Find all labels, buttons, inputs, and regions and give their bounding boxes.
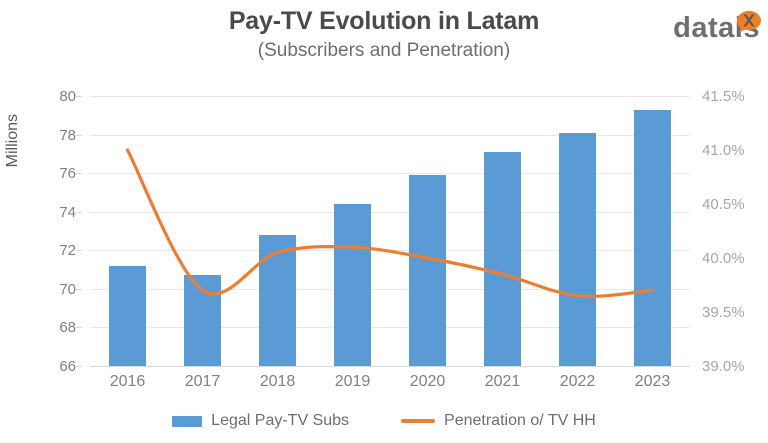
legend-item-bar[interactable]: Legal Pay-TV Subs [172, 412, 349, 430]
y2-axis-tick-label: 40.0% [702, 251, 745, 266]
speech-bubble-x-icon [736, 9, 762, 39]
logo-wordmark: datais [673, 12, 760, 44]
y-axis-tick-mark [76, 289, 82, 290]
y2-axis-tick-label: 39.0% [702, 359, 745, 374]
y-axis-tick-mark [76, 135, 82, 136]
x-axis-tick-label: 2017 [165, 372, 240, 392]
y-axis-tick-label: 76 [59, 166, 76, 181]
y-axis-tick-mark [76, 250, 82, 251]
x-axis-tick-label: 2021 [465, 372, 540, 392]
legend-swatch-bar-icon [172, 416, 202, 427]
line-path[interactable] [128, 150, 653, 296]
x-axis: 20162017201820192020202120222023 [90, 372, 690, 396]
right-y-axis: 39.0%39.5%40.0%40.5%41.0%41.5% [698, 96, 764, 366]
y-axis-tick-mark [76, 173, 82, 174]
y-axis-tick-mark [76, 327, 82, 328]
y2-axis-tick-label: 41.0% [702, 143, 745, 158]
legend-item-line[interactable]: Penetration o/ TV HH [401, 412, 596, 430]
chart-legend: Legal Pay-TV Subs Penetration o/ TV HH [0, 412, 768, 430]
chart-container: Pay-TV Evolution in Latam (Subscribers a… [0, 0, 768, 443]
x-axis-tick-label: 2020 [390, 372, 465, 392]
y-axis-tick-mark [76, 96, 82, 97]
legend-label-bar: Legal Pay-TV Subs [211, 412, 349, 430]
y2-axis-tick-label: 40.5% [702, 197, 745, 212]
y-axis-title-label: Millions [4, 114, 22, 167]
x-axis-tick-label: 2023 [615, 372, 690, 392]
left-y-axis: 6668707274767880 [26, 96, 84, 366]
plot-area [90, 96, 690, 366]
y-axis-title: Millions [2, 96, 24, 366]
y2-axis-tick-label: 41.5% [702, 89, 745, 104]
y-axis-tick-label: 74 [59, 205, 76, 220]
y-axis-tick-mark [76, 366, 82, 367]
x-axis-tick-label: 2018 [240, 372, 315, 392]
y-axis-tick-label: 66 [59, 359, 76, 374]
x-axis-tick-label: 2019 [315, 372, 390, 392]
y2-axis-tick-label: 39.5% [702, 305, 745, 320]
x-axis-tick-label: 2016 [90, 372, 165, 392]
line-series [90, 96, 690, 366]
y-axis-tick-label: 68 [59, 320, 76, 335]
y-axis-tick-label: 70 [59, 282, 76, 297]
y-axis-tick-label: 78 [59, 128, 76, 143]
gridline [90, 366, 690, 367]
legend-swatch-line-icon [401, 419, 435, 423]
y-axis-tick-label: 72 [59, 243, 76, 258]
x-axis-tick-label: 2022 [540, 372, 615, 392]
legend-label-line: Penetration o/ TV HH [444, 412, 596, 430]
dataxis-logo: datais [620, 8, 760, 48]
y-axis-tick-label: 80 [59, 89, 76, 104]
y-axis-tick-mark [76, 212, 82, 213]
